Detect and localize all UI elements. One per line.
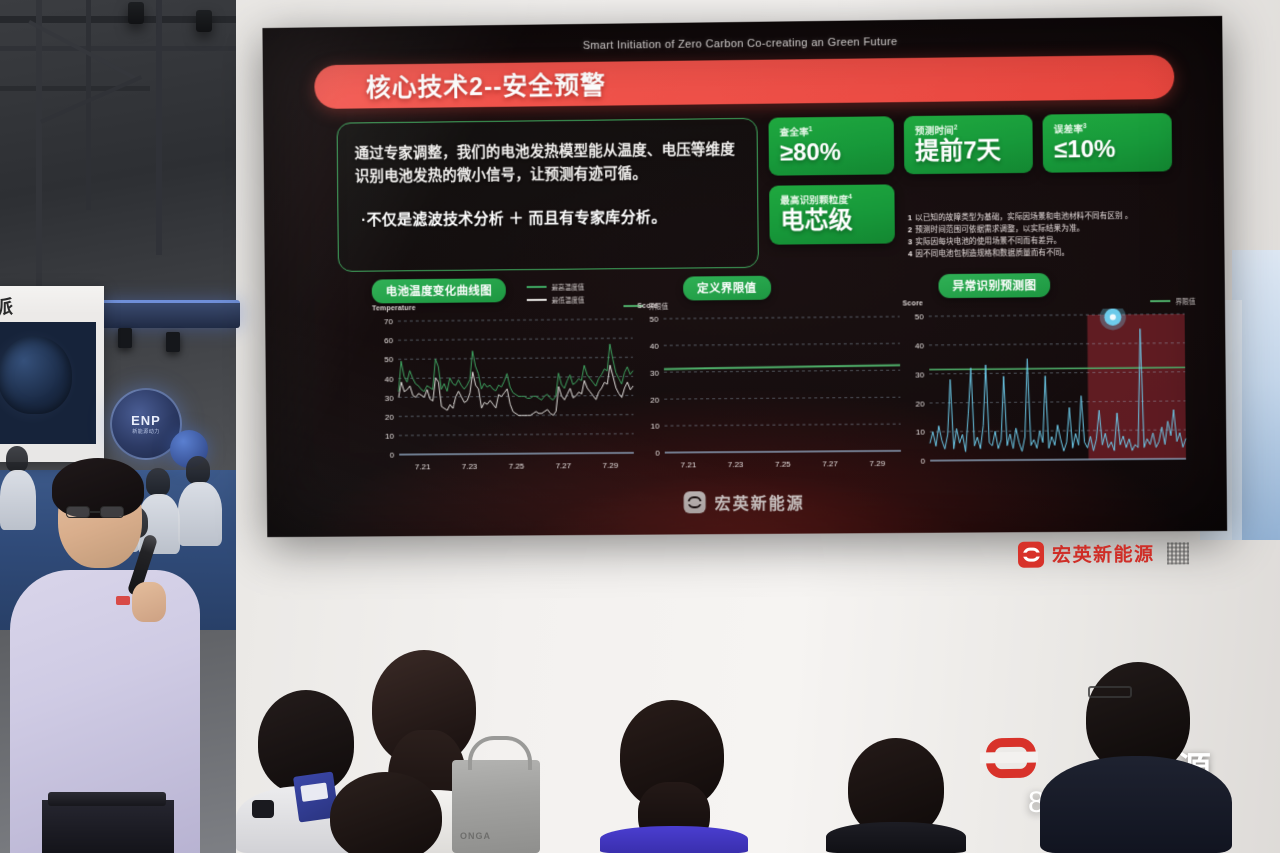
neighbour-booth-logo: 派 <box>0 292 13 319</box>
metric-label: 查全率1 <box>780 123 883 138</box>
metric-value: 电芯级 <box>780 208 883 235</box>
footnote-text: 以已知的故障类型为基础，实际因场景和电池材料不同有区别 。 <box>915 211 1133 222</box>
metric-footnote-ref: 3 <box>1083 123 1087 130</box>
svg-text:7.23: 7.23 <box>462 462 478 471</box>
chart-ylabel: Score <box>903 300 924 307</box>
slide-title-banner: 核心技术2--安全预警 <box>314 55 1174 109</box>
exhibition-hall-scene: 派 ENP 新能源动力 Smart Initiation of Zero Car… <box>0 0 1280 853</box>
chart-ylabel: Temperature <box>372 305 416 312</box>
svg-text:30: 30 <box>650 368 660 377</box>
audience-body <box>600 826 748 853</box>
svg-text:7.29: 7.29 <box>870 459 886 468</box>
metric-footnote-ref: 1 <box>809 126 813 133</box>
chart-title: 异常识别预测图 <box>938 273 1050 298</box>
svg-text:10: 10 <box>651 422 661 431</box>
truss-brace <box>40 75 142 123</box>
metric-footnote-ref: 4 <box>848 194 852 201</box>
svg-text:10: 10 <box>916 428 926 437</box>
legend-swatch-icon <box>1150 300 1170 302</box>
svg-text:7.29: 7.29 <box>603 461 619 470</box>
brand-mark-icon <box>1018 541 1044 567</box>
slide-brand-logo: 宏英新能源 <box>684 490 805 515</box>
footnote-text: 实际因每块电池的使用场景不同而有差异。 <box>915 236 1061 246</box>
chart-title-chip-wrap: 电池温度变化曲线图 <box>372 278 506 303</box>
bag-brand-text: ONGA <box>460 831 491 841</box>
chart-title-chip-wrap: 定义界限值 <box>683 276 771 301</box>
svg-text:40: 40 <box>385 375 394 384</box>
svg-text:30: 30 <box>915 370 925 379</box>
truss-column <box>86 0 91 210</box>
metric-cards-row-1: 查全率1 ≥80% 预测时间2 提前7天 误差率3 ≤ <box>768 113 1175 176</box>
page-title: 核心技术2--安全预警 <box>366 66 606 105</box>
brand-name: 宏英新能源 <box>715 490 805 515</box>
legend-swatch-icon <box>527 299 547 301</box>
presenter-trousers <box>42 800 174 853</box>
audience-head <box>330 772 442 853</box>
metric-value: 提前7天 <box>915 138 1022 166</box>
svg-text:50: 50 <box>650 315 660 324</box>
svg-text:40: 40 <box>650 342 660 351</box>
metric-label-text: 最高识别颗粒度 <box>780 195 848 207</box>
svg-text:20: 20 <box>916 399 926 408</box>
wall-brand-name: 宏英新能源 <box>1052 540 1155 568</box>
handbag: ONGA <box>452 760 540 853</box>
metric-value: ≤10% <box>1054 136 1161 164</box>
footnote-number: 4 <box>908 249 912 258</box>
chart-title: 定义界限值 <box>683 276 771 301</box>
qr-code-icon <box>1166 542 1188 564</box>
metric-label-text: 预测时间 <box>915 126 954 137</box>
svg-text:7.21: 7.21 <box>681 460 697 469</box>
chart-temperature-curve: 电池温度变化曲线图 最高温度值 最低温度值 Temperature <box>372 277 640 487</box>
ceiling-lamp-icon <box>196 10 212 32</box>
svg-text:70: 70 <box>384 317 393 326</box>
metric-value: ≥80% <box>780 139 883 167</box>
chart-plot-area: 010203040507.217.237.257.277.29 <box>637 310 907 472</box>
footnote-number: 1 <box>908 213 912 222</box>
svg-text:10: 10 <box>385 432 394 441</box>
svg-text:0: 0 <box>921 457 926 466</box>
audience-body <box>1040 756 1232 853</box>
background-person <box>6 446 28 472</box>
svg-text:7.25: 7.25 <box>509 462 525 471</box>
enp-logo-sub: 新能源动力 <box>132 428 160 435</box>
metric-footnote-ref: 2 <box>954 124 958 131</box>
metric-label-text: 查全率 <box>780 127 809 138</box>
description-paragraph: 通过专家调整，我们的电池发热模型能从温度、电压等维度识别电池发热的微小信号，让预… <box>355 139 741 190</box>
background-person <box>0 470 36 530</box>
chart-threshold-definition: 定义界限值 界限值 Score 010203040507.217.237.257… <box>637 274 907 484</box>
legend-entry: 最低温度值 <box>527 294 585 305</box>
chart-plot-area: 0102030405060707.217.237.257.277.29 <box>372 313 640 475</box>
slide-canvas: Smart Initiation of Zero Carbon Co-creat… <box>262 16 1227 537</box>
metric-label: 最高识别颗粒度4 <box>780 192 883 207</box>
slide-subtitle: Smart Initiation of Zero Carbon Co-creat… <box>263 32 1223 56</box>
spotlight-icon <box>166 332 180 352</box>
background-person <box>146 468 170 496</box>
presenter-hand <box>132 582 166 622</box>
description-box: 通过专家调整，我们的电池发热模型能从温度、电压等维度识别电池发热的微小信号，让预… <box>337 118 759 272</box>
metric-label: 误差率3 <box>1054 120 1161 135</box>
metric-card-lead-time: 预测时间2 提前7天 <box>904 115 1033 175</box>
footnote-text: 预测时间范围可依据需求调整，以实际结果为准。 <box>915 223 1084 234</box>
glasses-icon <box>1088 686 1132 698</box>
legend-entry: 最高温度值 <box>527 282 585 293</box>
metric-label-text: 误差率 <box>1054 124 1083 135</box>
chart-ylabel: Score <box>637 303 657 310</box>
svg-text:50: 50 <box>915 313 925 322</box>
svg-text:60: 60 <box>384 336 393 345</box>
svg-text:30: 30 <box>385 394 394 403</box>
background-person <box>186 456 210 484</box>
svg-text:7.27: 7.27 <box>822 459 838 468</box>
chart-title: 电池温度变化曲线图 <box>372 278 506 303</box>
glasses-icon <box>66 506 128 518</box>
metric-card-error-rate: 误差率3 ≤10% <box>1042 113 1172 173</box>
legend-entry: 界限值 <box>1150 296 1195 306</box>
projection-screen: Smart Initiation of Zero Carbon Co-creat… <box>262 16 1227 537</box>
legend-swatch-icon <box>527 286 547 288</box>
footnote-text: 因不同电池包制造规格和数据质量而有不同。 <box>915 248 1069 259</box>
wall-brand-logo: 宏英新能源 <box>1018 539 1189 567</box>
description-bullet: ·不仅是滤波技术分析 ＋ 而且有专家库分析。 <box>355 205 740 230</box>
svg-text:20: 20 <box>650 395 660 404</box>
chart-title-chip-wrap: 异常识别预测图 <box>938 273 1050 298</box>
ceiling-lamp-icon <box>128 2 144 24</box>
metric-card-granularity: 最高识别颗粒度4 电芯级 <box>769 185 895 245</box>
footnote-item: 4因不同电池包制造规格和数据质量而有不同。 <box>908 246 1178 261</box>
svg-text:7.23: 7.23 <box>728 460 744 469</box>
metric-label: 预测时间2 <box>915 122 1022 137</box>
chart-plot-area: 01020304050 <box>903 308 1193 471</box>
booth-canopy <box>100 300 240 328</box>
wristwatch-icon <box>252 800 274 818</box>
svg-text:50: 50 <box>384 356 393 365</box>
svg-text:40: 40 <box>915 341 925 350</box>
footnote-number: 2 <box>908 225 912 234</box>
wall-brand-mark-large-icon <box>979 729 1042 788</box>
footnote-list: 1以已知的故障类型为基础，实际因场景和电池材料不同有区别 。 2预测时间范围可依… <box>908 209 1178 260</box>
svg-text:0: 0 <box>655 449 660 458</box>
charts-row: 电池温度变化曲线图 最高温度值 最低温度值 Temperature <box>324 272 1192 487</box>
svg-text:7.27: 7.27 <box>556 461 572 470</box>
background-person <box>178 482 222 546</box>
legend-label: 界限值 <box>1175 296 1195 306</box>
footnote-number: 3 <box>908 237 912 246</box>
shirt-logo-badge <box>116 596 130 605</box>
svg-text:7.21: 7.21 <box>415 462 431 471</box>
audience-body <box>826 822 966 853</box>
spotlight-icon <box>118 328 132 348</box>
neighbour-booth-display <box>0 322 96 444</box>
chart-anomaly-prediction: 异常识别预测图 界限值 Score 01020304050 <box>902 272 1192 483</box>
ceiling-truss <box>0 86 150 91</box>
svg-text:7.25: 7.25 <box>775 460 791 469</box>
truss-column <box>36 0 42 300</box>
chart-legend: 最高温度值 最低温度值 <box>527 282 585 308</box>
svg-text:0: 0 <box>390 451 395 460</box>
brand-mark-icon <box>684 491 706 513</box>
legend-label: 最低温度值 <box>552 294 585 304</box>
presenter-belt <box>48 792 166 806</box>
truss-column <box>156 0 162 255</box>
enp-logo-text: ENP <box>131 413 161 428</box>
legend-label: 最高温度值 <box>551 282 584 292</box>
metric-card-recall: 查全率1 ≥80% <box>768 116 894 176</box>
svg-text:20: 20 <box>385 413 394 422</box>
